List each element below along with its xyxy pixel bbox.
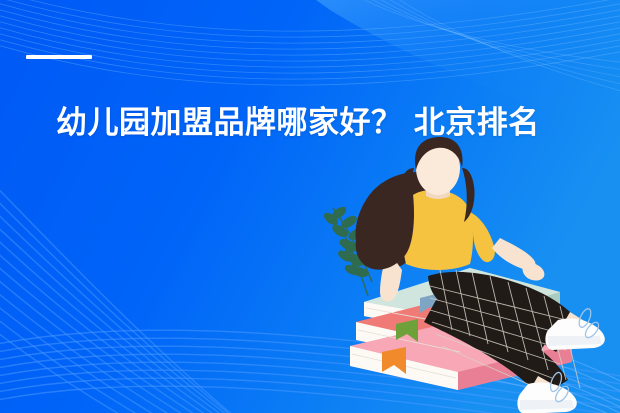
woman-sitting-on-books-illustration [0, 0, 620, 413]
accent-rule [26, 55, 92, 59]
promo-banner: 幼儿园加盟品牌哪家好？ 北京排名 [0, 0, 620, 413]
page-title: 幼儿园加盟品牌哪家好？ 北京排名 [56, 104, 596, 142]
